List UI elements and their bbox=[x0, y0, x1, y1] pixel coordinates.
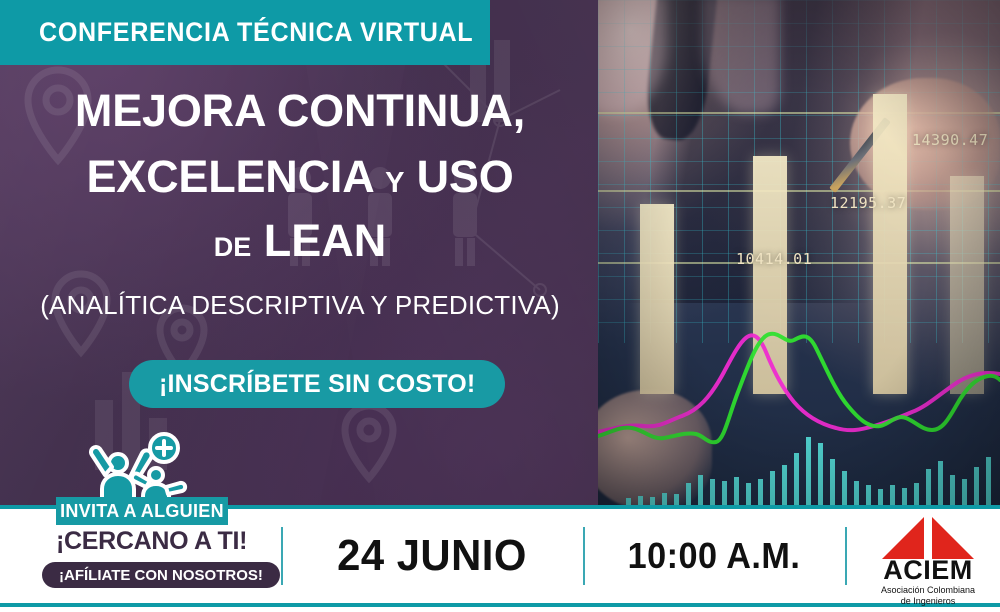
footer-divider-mid bbox=[583, 527, 585, 585]
invite-tag-label: INVITA A ALGUIEN bbox=[60, 501, 224, 522]
headline-line-2-tail: USO bbox=[417, 151, 514, 202]
eyebrow-tag: CONFERENCIA TÉCNICA VIRTUAL bbox=[0, 0, 490, 65]
aciem-logo: ACIEM Asociación Colombiana de Ingeniero… bbox=[866, 515, 990, 603]
event-date: 24 JUNIO bbox=[289, 525, 576, 587]
headline-line-3: DE LEAN bbox=[0, 218, 600, 264]
headline-line-2: EXCELENCIA Y USO bbox=[0, 154, 600, 200]
headline-line-2-main: EXCELENCIA bbox=[86, 151, 372, 202]
invite-tag: INVITA A ALGUIEN bbox=[56, 497, 228, 525]
register-cta-button[interactable]: ¡INSCRÍBETE SIN COSTO! bbox=[129, 360, 505, 408]
aciem-wordmark: ACIEM bbox=[866, 557, 990, 584]
left-content-panel: CONFERENCIA TÉCNICA VIRTUAL MEJORA CONTI… bbox=[0, 0, 600, 505]
affiliate-button[interactable]: ¡AFÍLIATE CON NOSOTROS! bbox=[42, 562, 280, 588]
footer-rule-bottom bbox=[0, 603, 1000, 607]
event-time: 10:00 A.M. bbox=[590, 525, 839, 587]
headline-line-3-prefix: DE bbox=[214, 232, 252, 262]
headline-line-3-main: LEAN bbox=[264, 215, 387, 266]
aciem-tagline-line-2: de Ingenieros bbox=[866, 596, 990, 607]
promo-banner: CONFERENCIA TÉCNICA VIRTUAL MEJORA CONTI… bbox=[0, 0, 1000, 612]
register-cta-label: ¡INSCRÍBETE SIN COSTO! bbox=[159, 370, 475, 399]
headline-line-2-conj: Y bbox=[385, 167, 404, 199]
footer-divider-right bbox=[845, 527, 847, 585]
aciem-tagline: Asociación Colombiana de Ingenieros bbox=[866, 585, 990, 608]
aciem-triangle-icon bbox=[882, 517, 974, 559]
eyebrow-label: CONFERENCIA TÉCNICA VIRTUAL bbox=[0, 17, 473, 48]
footer-divider-left bbox=[281, 527, 283, 585]
photo-vignette bbox=[598, 0, 1000, 505]
headline-subtitle: (ANALÍTICA DESCRIPTIVA Y PREDICTIVA) bbox=[0, 290, 600, 321]
hero-photo: 14390.47 12195.37 10414.01 bbox=[598, 0, 1000, 505]
affiliate-button-label: ¡AFÍLIATE CON NOSOTROS! bbox=[59, 567, 263, 584]
headline-block: MEJORA CONTINUA, EXCELENCIA Y USO DE LEA… bbox=[0, 88, 600, 321]
aciem-tagline-line-1: Asociación Colombiana bbox=[866, 585, 990, 596]
headline-line-1: MEJORA CONTINUA, bbox=[0, 88, 600, 134]
invite-headline: ¡CERCANO A TI! bbox=[56, 527, 228, 556]
two-people-plus-icon bbox=[78, 431, 190, 507]
